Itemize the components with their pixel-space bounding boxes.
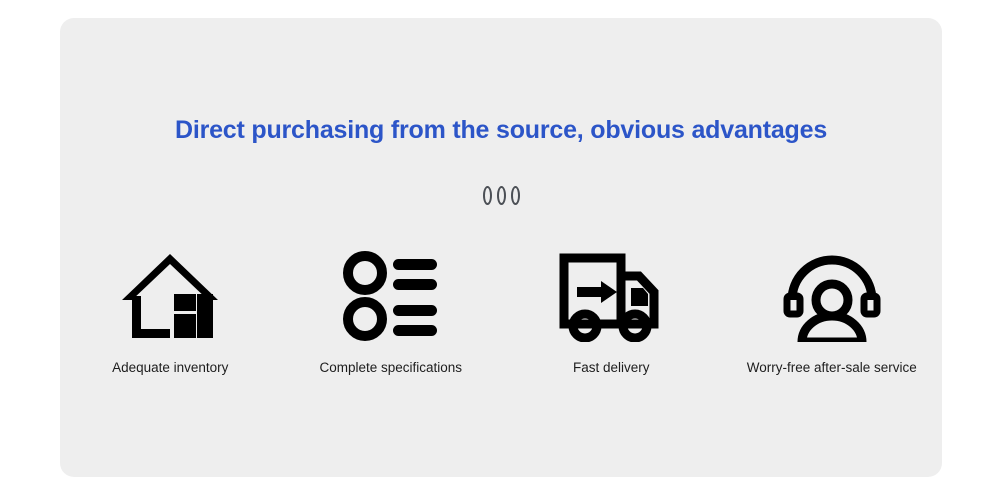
promo-banner: Direct purchasing from the source, obvio… bbox=[0, 0, 1000, 498]
divider-oval-icon bbox=[511, 186, 520, 205]
feature-item-inventory: Adequate inventory bbox=[62, 250, 278, 377]
feature-item-support: Worry-free after-sale service bbox=[724, 250, 940, 377]
delivery-truck-icon bbox=[559, 250, 663, 342]
specification-list-icon bbox=[341, 250, 441, 342]
feature-item-specifications: Complete specifications bbox=[283, 250, 499, 377]
page-title: Direct purchasing from the source, obvio… bbox=[60, 113, 942, 147]
feature-item-delivery: Fast delivery bbox=[503, 250, 719, 377]
feature-label: Fast delivery bbox=[573, 359, 650, 377]
divider-oval-icon bbox=[497, 186, 506, 205]
feature-label: Worry-free after-sale service bbox=[747, 359, 917, 377]
feature-label: Complete specifications bbox=[319, 359, 462, 377]
headset-support-icon bbox=[782, 250, 882, 342]
promo-card: Direct purchasing from the source, obvio… bbox=[60, 18, 942, 477]
feature-label: Adequate inventory bbox=[112, 359, 228, 377]
divider-oval-icon bbox=[483, 186, 492, 205]
warehouse-house-icon bbox=[120, 250, 220, 342]
feature-list: Adequate inventory bbox=[60, 250, 942, 377]
decorative-divider bbox=[60, 186, 942, 205]
